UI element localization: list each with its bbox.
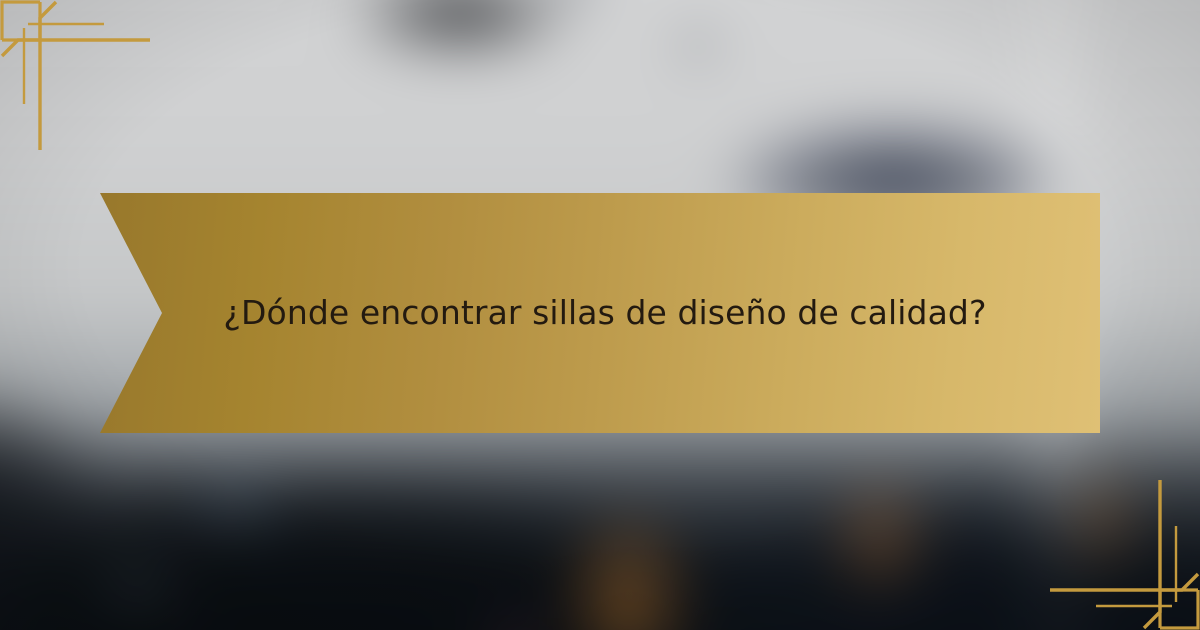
corner-ornament-bottom-right	[1050, 480, 1200, 630]
banner-canvas: ¿Dónde encontrar sillas de diseño de cal…	[0, 0, 1200, 630]
corner-ornament-top-left	[0, 0, 150, 150]
headline-banner: ¿Dónde encontrar sillas de diseño de cal…	[100, 193, 1100, 433]
corner-flourish-icon	[1050, 480, 1200, 630]
corner-flourish-icon	[0, 0, 150, 150]
banner-headline: ¿Dónde encontrar sillas de diseño de cal…	[100, 193, 1100, 433]
